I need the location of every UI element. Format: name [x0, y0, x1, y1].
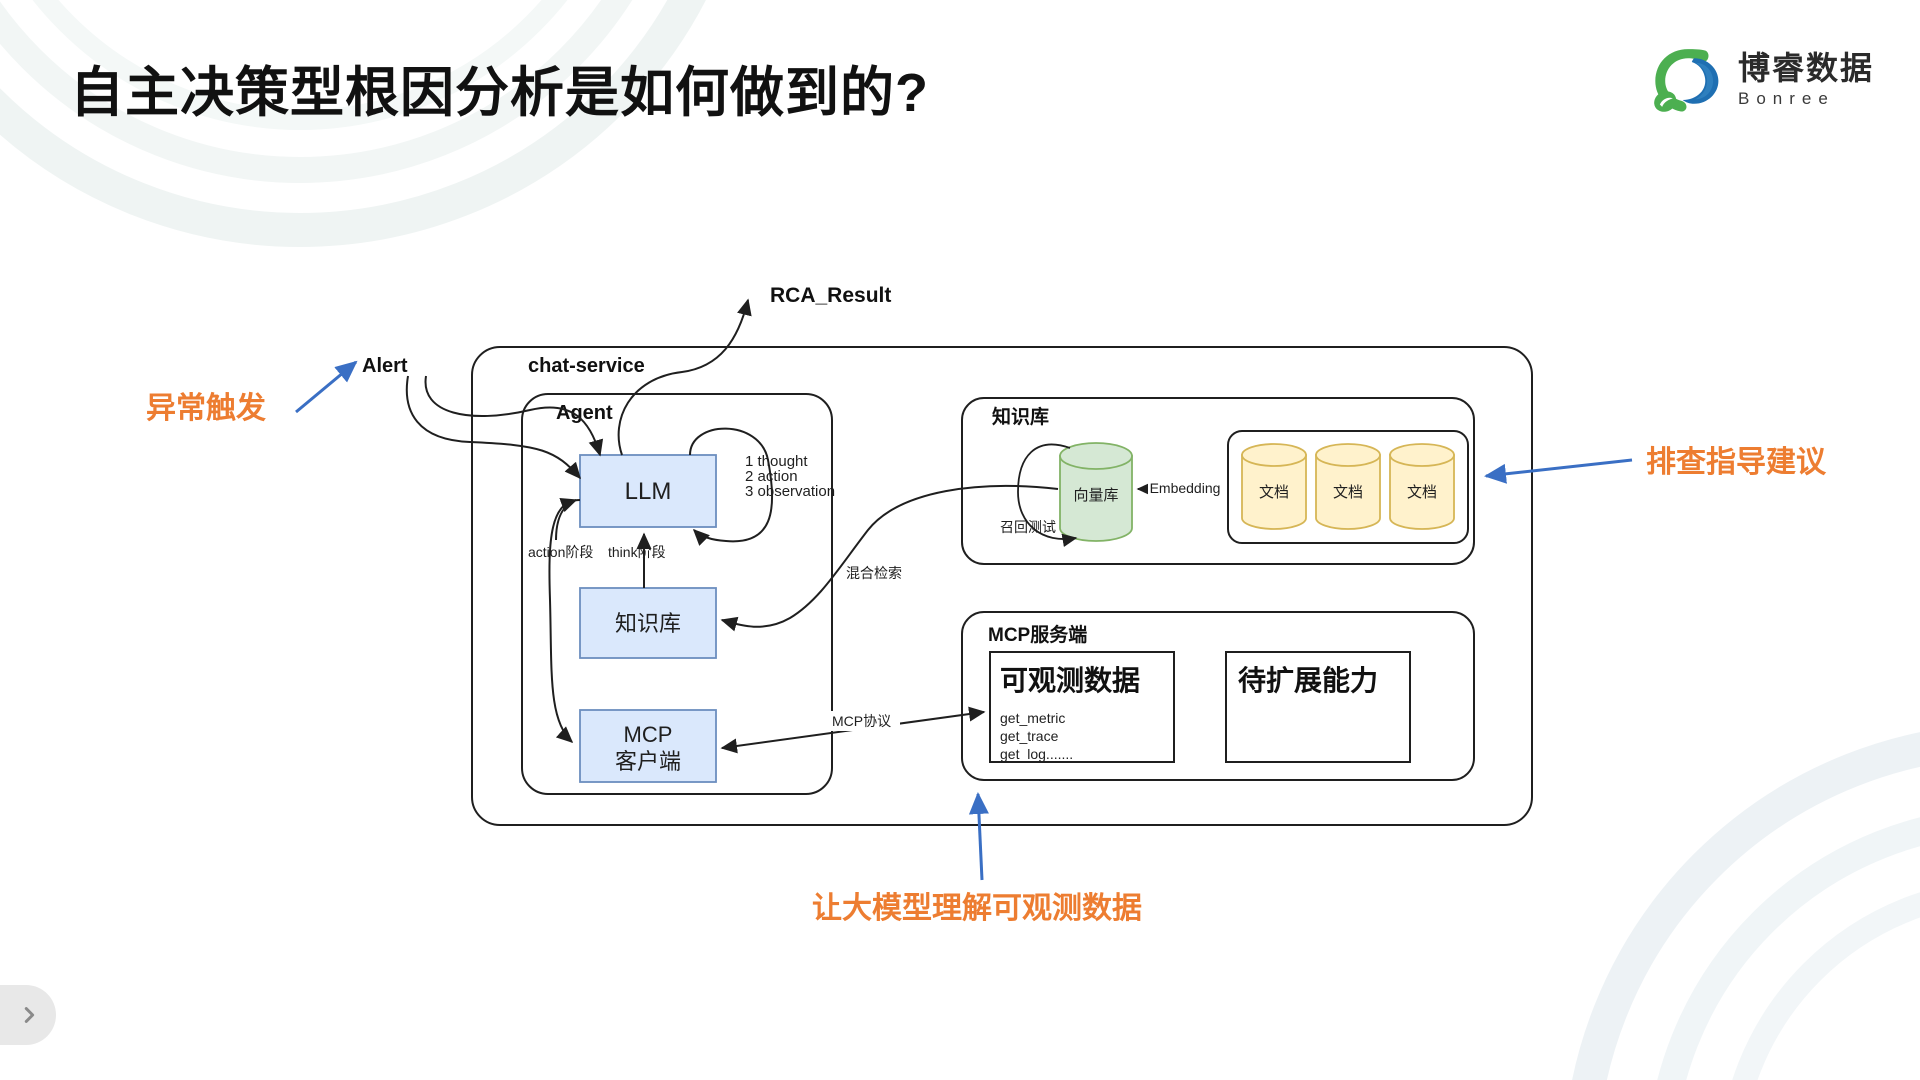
node-document-3[interactable]: 文档	[1390, 444, 1454, 529]
node-extensible-capability[interactable]: 待扩展能力	[1226, 652, 1410, 762]
node-mcp-client[interactable]: MCP 客户端	[580, 710, 716, 782]
node-document-2[interactable]: 文档	[1316, 444, 1380, 529]
node-agent-knowledge-base[interactable]: 知识库	[580, 588, 716, 658]
annotation-arrow-bottom	[978, 794, 982, 880]
mcp-server-label: MCP服务端	[988, 623, 1087, 646]
tool-get-log: get_log.......	[1000, 746, 1073, 762]
node-mcp-client-label-1: MCP	[624, 722, 673, 747]
node-vector-store-label: 向量库	[1073, 487, 1118, 504]
edge-hybrid-retrieval-label: 混合检索	[846, 565, 902, 581]
node-extensible-capability-title: 待扩展能力	[1238, 665, 1378, 696]
edge-embedding-label: Embedding	[1150, 480, 1221, 496]
node-mcp-client-label-2: 客户端	[615, 749, 681, 774]
tool-get-trace: get_trace	[1000, 728, 1059, 744]
edge-recall-test-label: 召回测试	[1000, 519, 1056, 535]
node-document-1-label: 文档	[1259, 484, 1289, 501]
loop-step-3: 3 observation	[745, 483, 835, 500]
node-document-2-label: 文档	[1333, 484, 1363, 501]
knowledge-base-label: 知识库	[992, 405, 1049, 428]
agent-label: Agent	[556, 402, 613, 424]
edge-embedding: Embedding	[1138, 479, 1222, 497]
node-observable-data-title: 可观测数据	[1000, 665, 1140, 696]
node-observable-data[interactable]: 可观测数据 get_metric get_trace get_log......…	[990, 652, 1174, 762]
alert-label: Alert	[362, 355, 408, 377]
edge-alert-in	[407, 376, 600, 478]
edge-rca-result-out	[619, 300, 748, 455]
edge-think-stage: think阶段	[608, 534, 666, 588]
node-llm[interactable]: LLM	[580, 455, 716, 527]
annotation-left-label: 异常触发	[146, 392, 266, 425]
chat-service-label: chat-service	[528, 355, 645, 377]
annotation-arrow-right	[1486, 460, 1632, 476]
annotation-bottom-label: 让大模型理解可观测数据	[812, 892, 1142, 925]
tool-get-metric: get_metric	[1000, 710, 1065, 726]
edge-mcp-protocol: MCP协议	[722, 711, 984, 748]
annotation-arrow-left	[296, 362, 356, 412]
node-document-3-label: 文档	[1407, 484, 1437, 501]
group-documents: 文档 文档 文档	[1228, 431, 1468, 543]
architecture-diagram: chat-service Agent LLM 知识库 MCP 客户端 1 tho…	[0, 0, 1920, 1080]
edge-action-stage-label: action阶段	[528, 544, 593, 560]
rca-result-label: RCA_Result	[770, 284, 891, 307]
edge-mcp-protocol-label: MCP协议	[832, 713, 891, 729]
annotation-right-label: 排查指导建议	[1646, 446, 1827, 479]
node-llm-label: LLM	[625, 478, 672, 505]
node-agent-knowledge-base-label: 知识库	[615, 611, 681, 636]
chevron-right-icon	[18, 1004, 40, 1026]
node-document-1[interactable]: 文档	[1242, 444, 1306, 529]
node-vector-store[interactable]: 向量库	[1060, 443, 1132, 541]
edge-think-stage-label: think阶段	[608, 544, 666, 560]
